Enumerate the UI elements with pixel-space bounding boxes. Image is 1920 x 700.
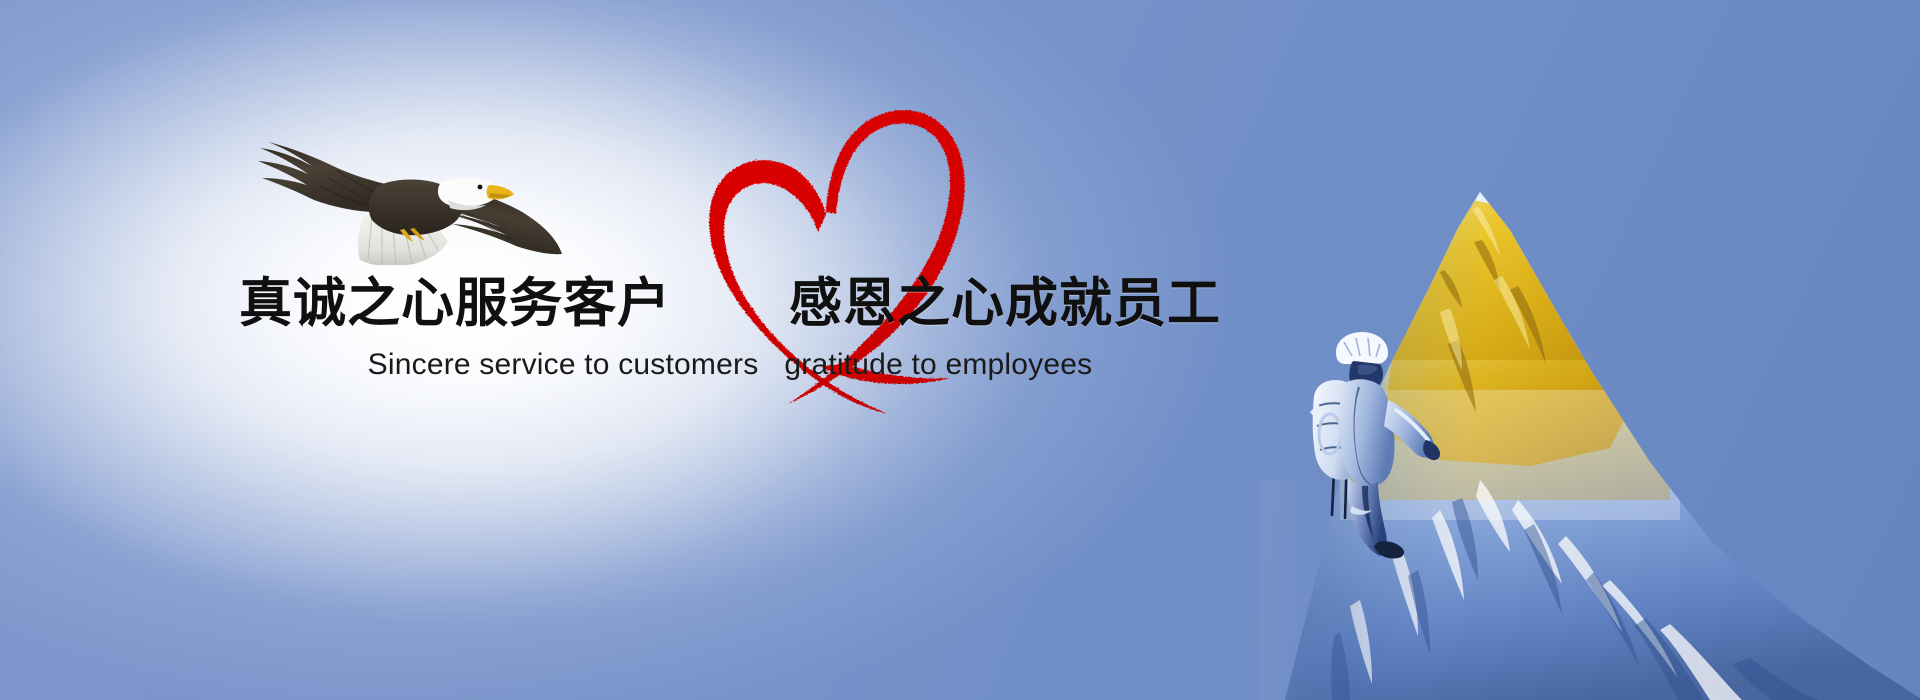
mountain-image: [1010, 180, 1920, 700]
headline-left: 真诚之心服务客户: [239, 274, 671, 334]
eagle-image: [186, 90, 586, 265]
subline-left: Sincere service to customers: [368, 345, 759, 385]
subline: Sincere service to customersgratitude to…: [0, 345, 1460, 385]
subline-right: gratitude to employees: [784, 345, 1092, 385]
headline: 真诚之心服务客户感恩之心成就员工: [0, 274, 1460, 334]
headline-right: 感恩之心成就员工: [789, 274, 1221, 334]
promo-banner: 真诚之心服务客户感恩之心成就员工 Sincere service to cust…: [0, 0, 1920, 700]
